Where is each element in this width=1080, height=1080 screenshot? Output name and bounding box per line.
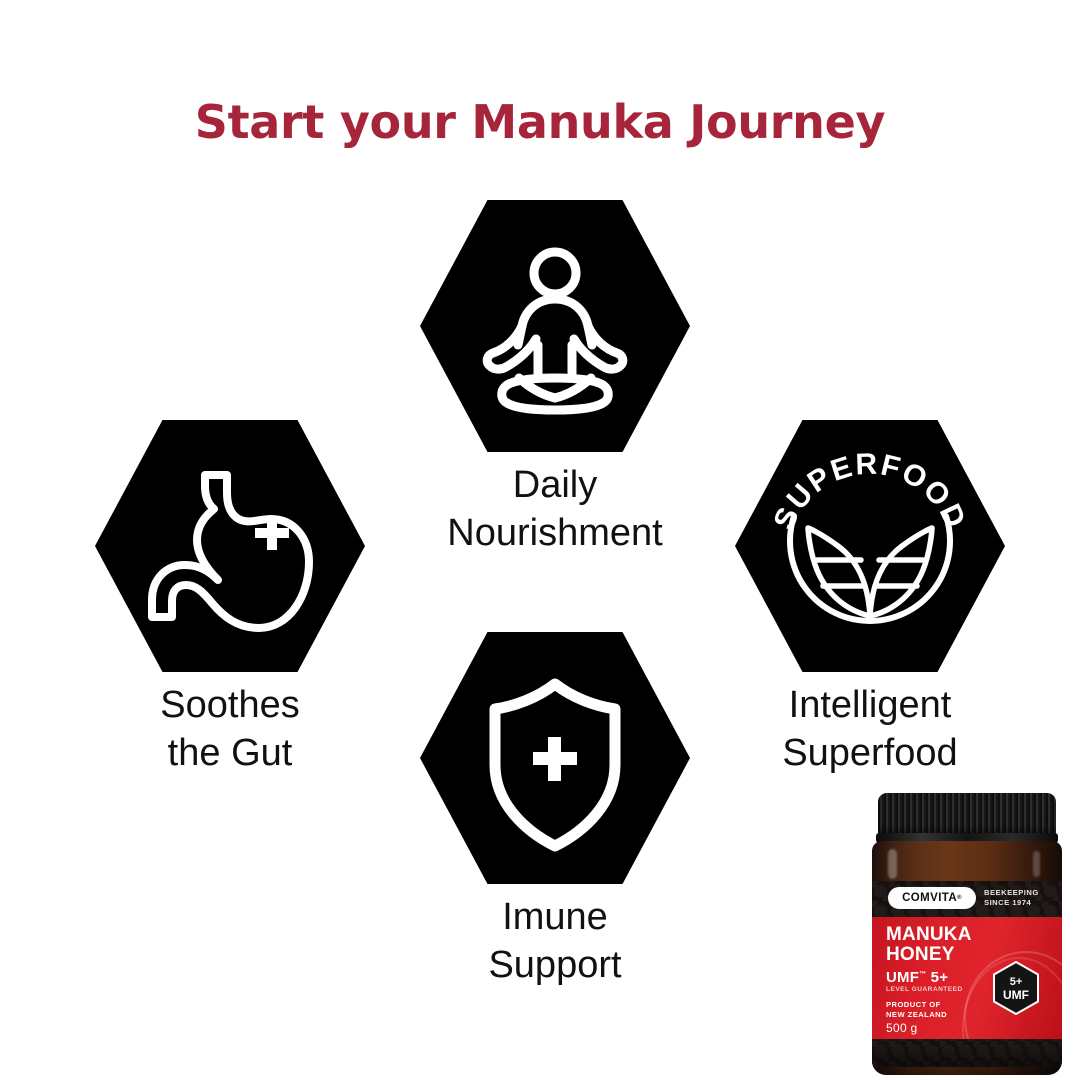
product-jar-manuka-honey[interactable]: COMVITA® BEEKEEPING SINCE 1974 MANUKA HO… — [864, 793, 1070, 1075]
benefit-label-line2: Support — [488, 942, 621, 990]
brand-tagline: BEEKEEPING SINCE 1974 — [984, 888, 1039, 908]
product-grade-label: UMF — [886, 969, 919, 986]
benefit-label-line1: Imune — [488, 894, 621, 942]
benefit-label-line2: Nourishment — [447, 510, 662, 558]
umf-badge-value: 5+ — [1010, 976, 1023, 988]
product-grade-trademark: ™ — [919, 971, 926, 978]
umf-badge-label: UMF — [1003, 988, 1029, 1002]
brand-tagline-line2: SINCE 1974 — [984, 898, 1039, 908]
jar-lid — [878, 793, 1056, 837]
poster-canvas: Start your Manuka Journey — [0, 0, 1080, 1080]
product-guarantee: LEVEL GUARANTEED — [886, 986, 963, 993]
benefit-label-line1: Daily — [447, 462, 662, 510]
jar-body: COMVITA® BEEKEEPING SINCE 1974 MANUKA HO… — [872, 841, 1062, 1075]
jar-highlight-left — [888, 849, 897, 879]
product-name-line1: MANUKA — [886, 925, 972, 945]
page-title: Start your Manuka Journey — [0, 97, 1080, 148]
shield-plus-icon — [420, 632, 690, 884]
stomach-plus-icon — [95, 420, 365, 672]
product-origin-line1: PRODUCT OF — [886, 1000, 947, 1010]
benefit-intelligent-superfood[interactable]: SUPERFOOD Intelligent Superfood — [735, 420, 1005, 672]
benefit-label-line1: Intelligent — [782, 682, 957, 730]
jar-brand-row: COMVITA® BEEKEEPING SINCE 1974 — [872, 887, 1062, 913]
hexagon-tile-soothes-gut — [95, 420, 365, 672]
product-origin-line2: NEW ZEALAND — [886, 1010, 947, 1020]
benefit-label-daily-nourishment: Daily Nourishment — [447, 462, 662, 558]
benefit-imune-support[interactable]: Imune Support — [420, 632, 690, 884]
meditation-lotus-icon — [420, 200, 690, 452]
benefit-label-intelligent-superfood: Intelligent Superfood — [782, 682, 957, 778]
umf-hexagon-badge: 5+ UMF — [992, 961, 1040, 1015]
product-origin: PRODUCT OF NEW ZEALAND — [886, 1000, 947, 1021]
benefit-label-line2: the Gut — [160, 730, 299, 778]
brand-tagline-line1: BEEKEEPING — [984, 888, 1039, 898]
brand-logo-comvita: COMVITA® — [888, 887, 976, 909]
jar-bottom-shadow — [872, 1041, 1062, 1075]
jar-label-red-band: MANUKA HONEY UMF™ 5+ LEVEL GUARANTEED PR… — [872, 917, 1062, 1039]
brand-trademark: ® — [957, 895, 962, 901]
benefit-label-soothes-gut: Soothes the Gut — [160, 682, 299, 778]
benefit-label-imune-support: Imune Support — [488, 894, 621, 990]
product-grade: UMF™ 5+ — [886, 969, 948, 986]
hexagon-tile-imune-support — [420, 632, 690, 884]
product-grade-value: 5+ — [931, 969, 949, 986]
product-name-line2: HONEY — [886, 945, 972, 965]
product-net-weight: 500 g — [886, 1021, 918, 1035]
superfood-leaf-badge-icon: SUPERFOOD — [735, 420, 1005, 672]
benefit-label-line1: Soothes — [160, 682, 299, 730]
benefit-daily-nourishment[interactable]: Daily Nourishment — [420, 200, 690, 452]
brand-name: COMVITA — [902, 892, 957, 904]
product-name: MANUKA HONEY — [886, 925, 972, 965]
benefit-soothes-gut[interactable]: Soothes the Gut — [95, 420, 365, 672]
jar-highlight-right — [1033, 851, 1040, 877]
hexagon-tile-intelligent-superfood: SUPERFOOD — [735, 420, 1005, 672]
hexagon-tile-daily-nourishment — [420, 200, 690, 452]
benefit-label-line2: Superfood — [782, 730, 957, 778]
